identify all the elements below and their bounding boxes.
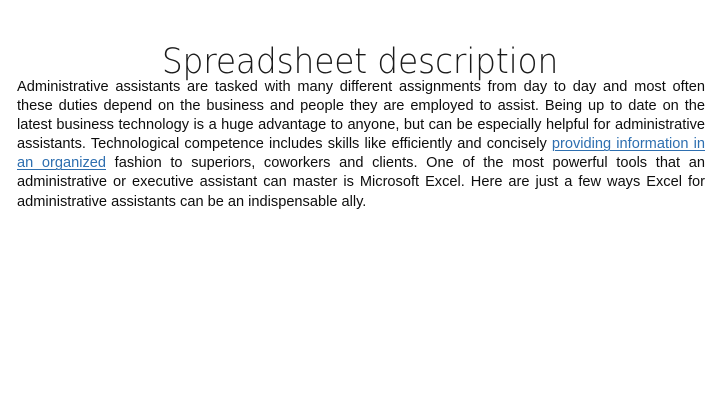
slide-canvas: Spreadsheet description Administrative a… — [0, 0, 720, 405]
body-paragraph: Administrative assistants are tasked wit… — [17, 78, 705, 212]
body-text-block: Administrative assistants are tasked wit… — [17, 78, 705, 212]
body-text-segment-2: fashion to superiors, coworkers and clie… — [17, 155, 705, 209]
